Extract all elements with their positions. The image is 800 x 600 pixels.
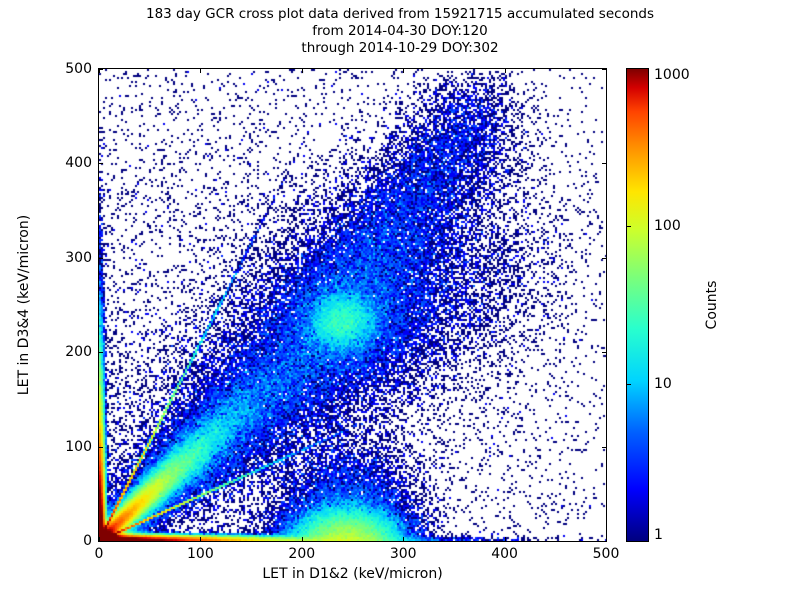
colorbar-tick xyxy=(626,226,631,227)
x-tick xyxy=(505,537,506,541)
y-tick-label: 200 xyxy=(65,344,92,360)
x-axis-title: LET in D1&2 (keV/micron) xyxy=(98,566,607,582)
x-tick-top xyxy=(403,69,404,73)
colorbar xyxy=(626,68,649,542)
chart-title-line-1: 183 day GCR cross plot data derived from… xyxy=(0,6,800,23)
x-tick-label: 0 xyxy=(95,546,104,562)
y-tick-label: 0 xyxy=(83,533,92,549)
y-tick-right xyxy=(602,447,606,448)
x-tick xyxy=(200,537,201,541)
chart-figure: 183 day GCR cross plot data derived from… xyxy=(0,0,800,600)
x-tick xyxy=(302,537,303,541)
y-tick-label: 400 xyxy=(65,155,92,171)
x-tick-label: 200 xyxy=(288,546,315,562)
colorbar-title: Counts xyxy=(704,281,720,330)
colorbar-tick xyxy=(626,384,631,385)
chart-title-line-2: from 2014-04-30 DOY:120 xyxy=(0,23,800,40)
x-tick-top xyxy=(200,69,201,73)
y-tick xyxy=(99,541,103,542)
y-axis-title: LET in D3&4 (keV/micron) xyxy=(16,215,32,395)
y-tick-right xyxy=(602,258,606,259)
x-tick-label: 400 xyxy=(491,546,518,562)
y-tick-right xyxy=(602,69,606,70)
x-tick-label: 100 xyxy=(187,546,214,562)
x-tick-label: 500 xyxy=(593,546,620,562)
scatter-density-plot xyxy=(99,69,606,541)
y-tick-right xyxy=(602,541,606,542)
x-tick xyxy=(606,537,607,541)
x-tick-label: 300 xyxy=(390,546,417,562)
x-tick xyxy=(403,537,404,541)
y-tick xyxy=(99,69,103,70)
x-tick-top xyxy=(606,69,607,73)
colorbar-tick-label: 1 xyxy=(654,527,663,543)
y-tick-label: 500 xyxy=(65,61,92,77)
chart-title: 183 day GCR cross plot data derived from… xyxy=(0,6,800,57)
y-tick-right xyxy=(602,163,606,164)
colorbar-tick-label: 10 xyxy=(654,376,672,392)
y-tick-right xyxy=(602,352,606,353)
y-tick xyxy=(99,352,103,353)
plot-area xyxy=(98,68,607,542)
chart-title-line-3: through 2014-10-29 DOY:302 xyxy=(0,40,800,57)
y-tick-label: 300 xyxy=(65,250,92,266)
y-tick xyxy=(99,163,103,164)
y-tick-label: 100 xyxy=(65,439,92,455)
y-tick xyxy=(99,258,103,259)
colorbar-tick-label: 100 xyxy=(654,218,681,234)
x-tick-top xyxy=(302,69,303,73)
colorbar-tick-label: 1000 xyxy=(654,67,690,83)
y-tick xyxy=(99,447,103,448)
x-tick-top xyxy=(505,69,506,73)
